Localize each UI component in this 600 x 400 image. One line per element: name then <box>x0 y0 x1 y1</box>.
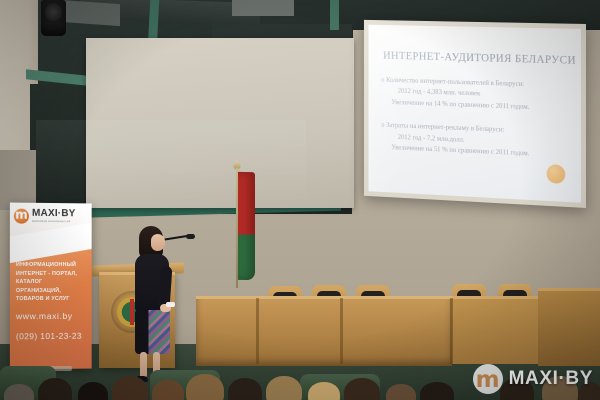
watermark-text: MAXI·BY <box>509 368 593 390</box>
banner-logo: MAXI·BY максимум возможностей <box>14 209 76 225</box>
audience-head <box>308 382 340 400</box>
audience-head <box>186 374 224 400</box>
audience-head <box>420 382 454 400</box>
slide-body: Количество интернет-пользователей в Бела… <box>381 75 573 175</box>
slide-title: ИНТЕРНЕТ-АУДИТОРИЯ БЕЛАРУСИ <box>383 50 576 67</box>
slide-decor-dot <box>547 164 566 184</box>
maxi-by-logo-icon <box>14 209 29 224</box>
slide-bullet-group: Количество интернет-пользователей в Бела… <box>381 75 573 115</box>
ceiling-speaker <box>41 0 66 36</box>
banner-wordmark: MAXI·BY <box>32 209 75 219</box>
maxi-by-watermark-icon <box>473 364 503 394</box>
wall-stripe-vertical-right <box>330 0 339 30</box>
audience-head <box>112 376 148 400</box>
banner-url: www.maxi.by <box>16 311 73 321</box>
belarus-flag <box>238 172 255 280</box>
banner-description-line: ИНФОРМАЦИОННЫЙ <box>16 261 88 270</box>
presentation-photo: ИНТЕРНЕТ-АУДИТОРИЯ БЕЛАРУСИ Количество и… <box>0 0 600 400</box>
banner-tagline: максимум возможностей <box>32 219 75 224</box>
wall-panel-grey-c <box>0 150 36 210</box>
projection-screen: ИНТЕРНЕТ-АУДИТОРИЯ БЕЛАРУСИ Количество и… <box>364 20 586 208</box>
banner-description-line: ИНТЕРНЕТ - ПОРТАЛ, <box>16 270 88 279</box>
wall-panel-grey-a <box>60 0 120 26</box>
audience-head <box>78 382 108 400</box>
wall-panel-grey-b <box>232 0 294 16</box>
wall-light-panel <box>86 38 354 208</box>
slide-surface: ИНТЕРНЕТ-АУДИТОРИЯ БЕЛАРУСИ Количество и… <box>368 25 581 203</box>
audience-head <box>4 384 34 400</box>
banner-description-line: КАТАЛОГ ОРГАНИЗАЦИЙ, <box>16 278 88 295</box>
audience-head <box>344 378 380 400</box>
banner-description: ИНФОРМАЦИОННЫЙ ИНТЕРНЕТ - ПОРТАЛ, КАТАЛО… <box>16 261 88 304</box>
presenter-face <box>151 234 165 251</box>
banner-description-line: ТОВАРОВ И УСЛУГ <box>16 295 88 304</box>
audience-head <box>266 376 302 400</box>
audience-head <box>152 380 184 400</box>
microphone-icon <box>186 234 195 239</box>
audience-head <box>386 384 416 400</box>
slide-bullet-group: Затраты на интернет-рекламу в Беларуси: … <box>381 120 573 162</box>
watermark: MAXI·BY <box>473 364 593 394</box>
presentation-clicker <box>166 302 175 307</box>
audience-head <box>228 378 262 400</box>
audience-head <box>38 378 72 400</box>
